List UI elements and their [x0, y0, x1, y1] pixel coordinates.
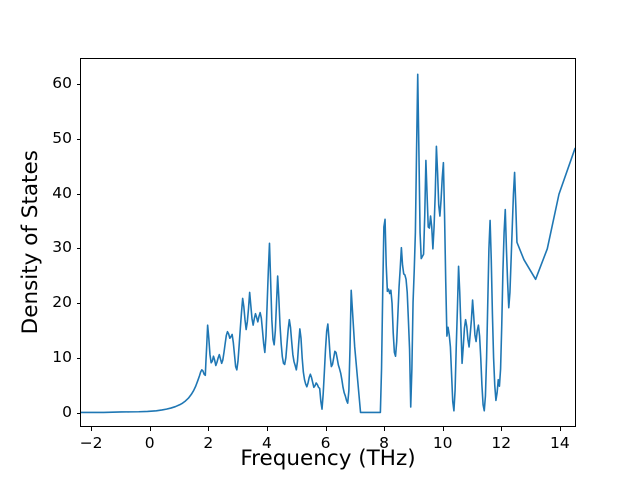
y-tick-label: 30	[52, 238, 72, 256]
y-tick-label: 40	[52, 184, 72, 202]
y-tick-mark	[77, 248, 81, 249]
x-axis-label: Frequency (THz)	[80, 446, 576, 471]
x-tick-mark	[560, 427, 561, 431]
y-tick-mark	[77, 303, 81, 304]
x-tick-mark	[326, 427, 327, 431]
x-tick-mark	[501, 427, 502, 431]
y-tick-label: 20	[52, 293, 72, 311]
x-tick-mark	[208, 427, 209, 431]
density-of-states-line	[81, 74, 575, 412]
plot-axes-frame	[80, 58, 576, 428]
y-tick-mark	[77, 84, 81, 85]
y-tick-label: 50	[52, 129, 72, 147]
y-tick-mark	[77, 358, 81, 359]
y-tick-mark	[77, 139, 81, 140]
y-tick-mark	[77, 413, 81, 414]
x-tick-mark	[91, 427, 92, 431]
x-tick-mark	[150, 427, 151, 431]
figure-canvas: 0102030405060 −202468101214 Density of S…	[0, 0, 640, 480]
y-axis-label: Density of States	[18, 58, 44, 428]
y-tick-label: 60	[52, 74, 72, 92]
x-tick-mark	[384, 427, 385, 431]
y-tick-mark	[77, 194, 81, 195]
y-tick-label: 0	[62, 403, 72, 421]
density-of-states-line-svg	[81, 59, 575, 427]
y-tick-label: 10	[52, 348, 72, 366]
x-tick-mark	[443, 427, 444, 431]
x-tick-mark	[267, 427, 268, 431]
